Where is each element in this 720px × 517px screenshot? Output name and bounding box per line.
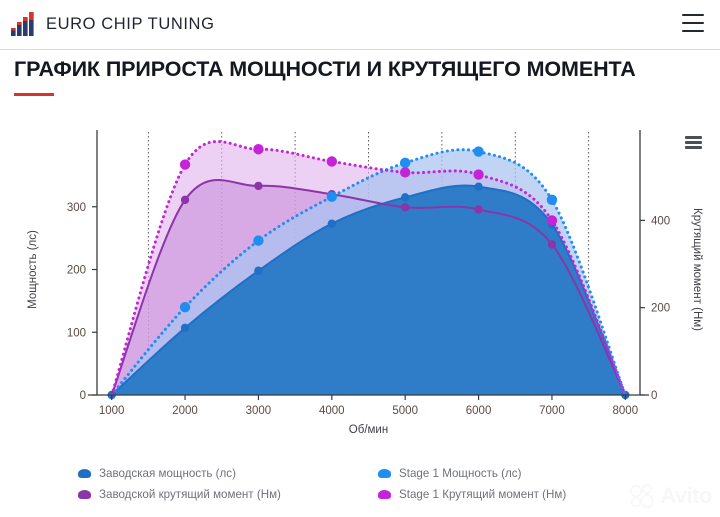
data-point xyxy=(401,203,409,211)
x-tick-label: 8000 xyxy=(613,405,639,417)
y-axis-title-right: Крутящий момент (Нм) xyxy=(691,208,703,331)
x-tick-label: 7000 xyxy=(539,405,565,417)
data-point xyxy=(327,156,337,166)
data-point xyxy=(548,240,556,248)
x-tick-label: 5000 xyxy=(392,405,418,417)
power-torque-chart: 0100200300020040010002000300040005000600… xyxy=(0,118,720,458)
data-point xyxy=(181,324,189,332)
x-axis-title: Об/мин xyxy=(349,424,388,436)
chart-container: 0100200300020040010002000300040005000600… xyxy=(0,118,720,458)
x-tick-label: 2000 xyxy=(172,405,198,417)
data-point xyxy=(474,205,482,213)
data-point xyxy=(253,235,263,245)
legend-label: Stage 1 Мощность (лс) xyxy=(399,467,521,480)
legend-column-left: Заводская мощность (лс) Заводской крутящ… xyxy=(78,463,281,505)
data-point xyxy=(180,302,190,312)
legend-marker-icon xyxy=(78,490,91,499)
legend-label: Заводская мощность (лс) xyxy=(99,467,236,480)
data-point xyxy=(181,196,189,204)
data-point xyxy=(400,158,410,168)
data-point xyxy=(180,159,190,169)
data-point xyxy=(473,146,483,156)
x-tick-label: 1000 xyxy=(99,405,125,417)
data-point xyxy=(474,182,482,190)
page-root: EURO CHIP TUNING ГРАФИК ПРИРОСТА МОЩНОСТ… xyxy=(0,0,720,517)
y-tick-label-left: 300 xyxy=(67,202,86,214)
x-tick-label: 6000 xyxy=(466,405,492,417)
y-tick-label-left: 0 xyxy=(80,390,86,402)
y-tick-label-right: 200 xyxy=(651,303,670,315)
legend-label: Stage 1 Крутящий момент (Нм) xyxy=(399,488,566,501)
data-point xyxy=(473,169,483,179)
legend-marker-icon xyxy=(78,469,91,478)
y-tick-label-right: 400 xyxy=(651,215,670,227)
legend-item-stock-torque[interactable]: Заводской крутящий момент (Нм) xyxy=(78,484,281,505)
legend-item-stage1-power[interactable]: Stage 1 Мощность (лс) xyxy=(378,463,566,484)
legend-column-right: Stage 1 Мощность (лс) Stage 1 Крутящий м… xyxy=(378,463,566,505)
data-point xyxy=(327,192,337,202)
data-point xyxy=(401,193,409,201)
brand[interactable]: EURO CHIP TUNING xyxy=(0,12,215,37)
legend-label: Заводской крутящий момент (Нм) xyxy=(99,488,281,501)
y-tick-label-left: 100 xyxy=(67,327,86,339)
chart-legend: Заводская мощность (лс) Заводской крутящ… xyxy=(0,458,720,517)
legend-item-stage1-torque[interactable]: Stage 1 Крутящий момент (Нм) xyxy=(378,484,566,505)
title-block: ГРАФИК ПРИРОСТА МОЩНОСТИ И КРУТЯЩЕГО МОМ… xyxy=(14,57,636,96)
data-point xyxy=(254,182,262,190)
y-axis-title-left: Мощность (лс) xyxy=(27,230,39,309)
hamburger-bar xyxy=(682,30,704,32)
page-title: ГРАФИК ПРИРОСТА МОЩНОСТИ И КРУТЯЩЕГО МОМ… xyxy=(14,57,636,82)
data-point xyxy=(547,195,557,205)
legend-item-stock-power[interactable]: Заводская мощность (лс) xyxy=(78,463,281,484)
y-tick-label-left: 200 xyxy=(67,265,86,277)
x-tick-label: 4000 xyxy=(319,405,345,417)
data-point xyxy=(547,215,557,225)
data-point xyxy=(254,267,262,275)
data-point xyxy=(400,167,410,177)
y-tick-label-right: 0 xyxy=(651,390,657,402)
title-accent-rule xyxy=(14,93,54,96)
hamburger-bar xyxy=(682,14,704,16)
data-point xyxy=(253,144,263,154)
brand-name: EURO CHIP TUNING xyxy=(46,15,215,34)
data-point xyxy=(328,219,336,227)
bar-chart-logo-icon xyxy=(11,12,37,37)
site-header: EURO CHIP TUNING xyxy=(0,0,720,50)
hamburger-bar xyxy=(682,22,704,24)
legend-marker-icon xyxy=(378,490,391,499)
legend-marker-icon xyxy=(378,469,391,478)
hamburger-menu-icon[interactable] xyxy=(682,14,704,32)
x-tick-label: 3000 xyxy=(246,405,272,417)
